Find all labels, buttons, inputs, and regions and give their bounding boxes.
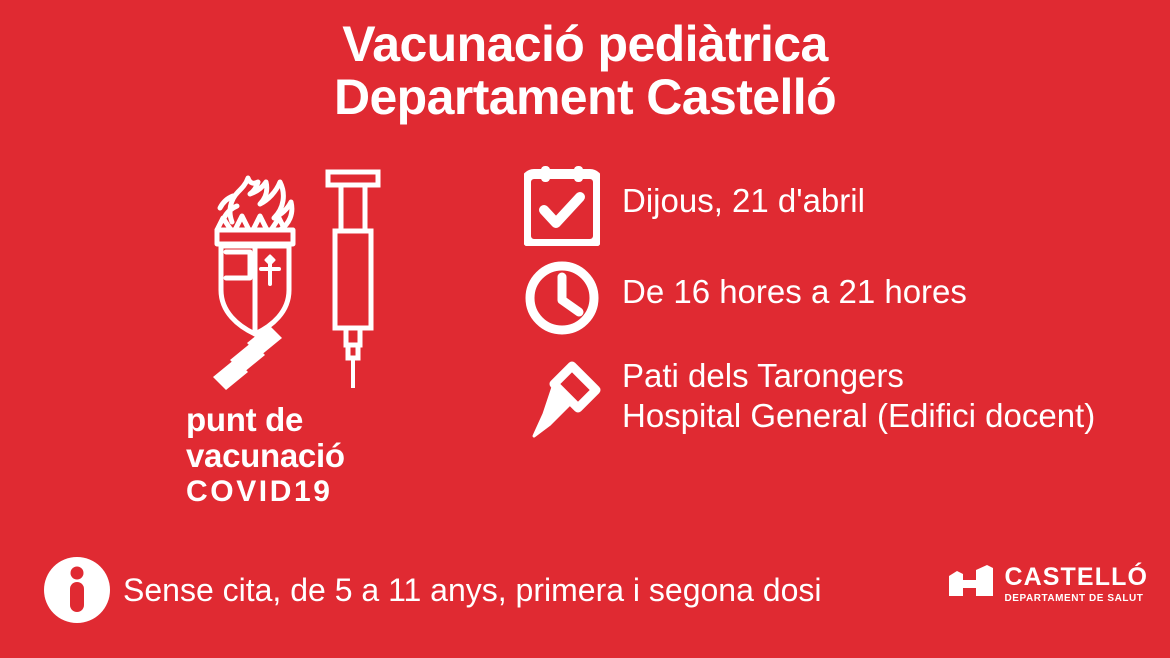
vaccination-point-label: punt de vacunació COVID19 [186,402,401,510]
brand-logo: CASTELLÓ DEPARTAMENT DE SALUT [947,564,1148,604]
detail-row-date: Dijous, 21 d'abril [524,164,1154,256]
clock-icon [524,256,622,338]
logo-marks [186,160,401,392]
brand-text: CASTELLÓ DEPARTAMENT DE SALUT [1004,565,1148,604]
detail-place-line-1: Pati dels Tarongers [622,356,1095,396]
map-pin-icon [524,348,622,442]
detail-place-line-2: Hospital General (Edifici docent) [622,396,1095,436]
detail-time-text: De 16 hores a 21 hores [622,256,967,312]
syringe-icon [314,164,392,392]
logo-line-2: vacunació [186,438,401,474]
brand-subtitle: DEPARTAMENT DE SALUT [1004,594,1148,604]
detail-row-time: De 16 hores a 21 hores [524,256,1154,348]
headline-line-2: Departament Castelló [0,71,1170,124]
event-details: Dijous, 21 d'abril De 16 hores a 21 hore… [524,164,1154,458]
headline-line-1: Vacunació pediàtrica [0,18,1170,71]
info-circle-icon [43,556,111,624]
brand-name: CASTELLÓ [1004,565,1148,590]
detail-row-place: Pati dels Tarongers Hospital General (Ed… [524,348,1154,458]
logo-line-3: COVID19 [186,474,401,510]
calendar-check-icon [524,164,622,246]
valencia-coat-of-arms-icon [190,160,320,392]
castello-h-building-icon [947,564,995,604]
footer-note-text: Sense cita, de 5 a 11 anys, primera i se… [111,572,821,608]
logo-line-1: punt de [186,402,401,438]
detail-place-text: Pati dels Tarongers Hospital General (Ed… [622,348,1095,436]
vaccination-point-logo: punt de vacunació COVID19 [186,160,401,510]
poster-canvas: Vacunació pediàtrica Departament Castell… [0,0,1170,658]
page-title: Vacunació pediàtrica Departament Castell… [0,18,1170,124]
detail-date-text: Dijous, 21 d'abril [622,164,865,221]
footer-note: Sense cita, de 5 a 11 anys, primera i se… [43,556,821,624]
